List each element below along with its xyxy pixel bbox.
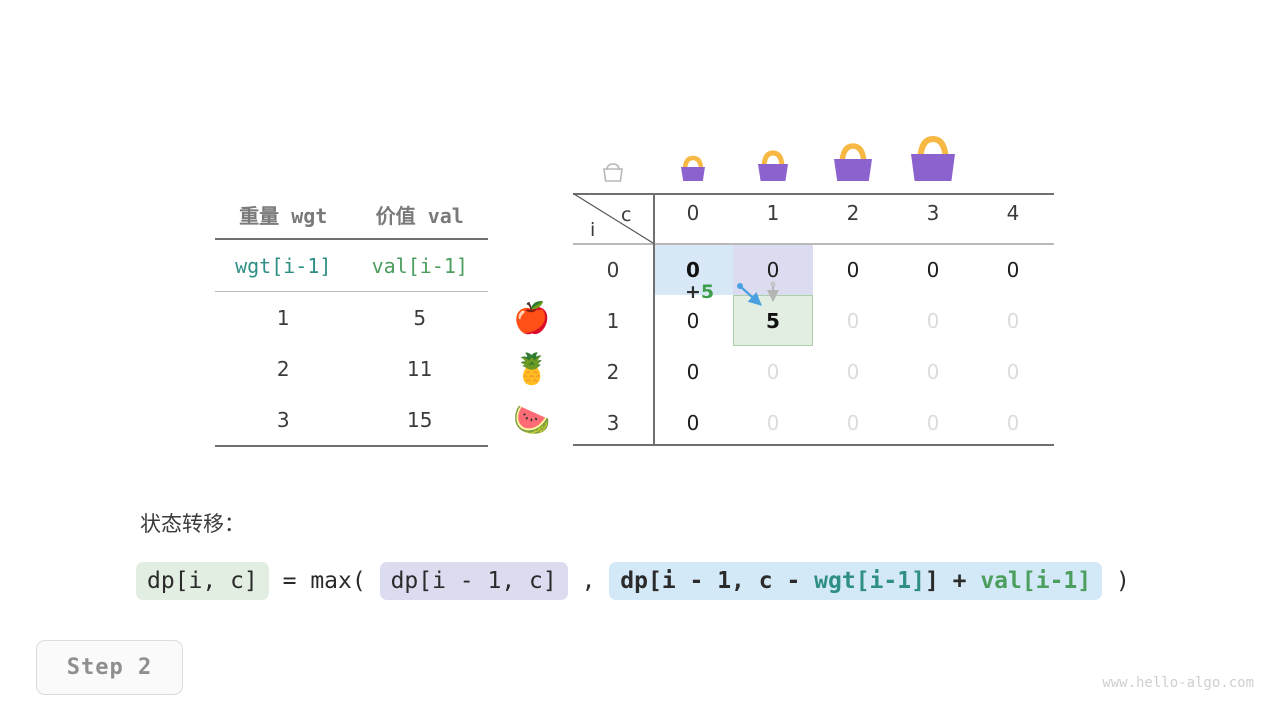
bag-icon-0 xyxy=(573,128,653,190)
formula-take-val: val[i-1] xyxy=(980,568,1091,594)
item-weight-1: 1 xyxy=(215,292,352,344)
dp-row-label-0: 0 xyxy=(573,258,653,282)
gain-annotation: +5 xyxy=(685,281,714,303)
dp-cell-1-3: 0 xyxy=(893,309,973,333)
dp-cell-2-4: 0 xyxy=(973,360,1053,384)
items-subheader-wgt: wgt[i-1] xyxy=(215,239,352,292)
items-header-weight: 重量 wgt xyxy=(215,190,352,239)
dp-cell-3-3: 0 xyxy=(893,411,973,435)
dp-cell-1-4: 0 xyxy=(973,309,1053,333)
gain-value: 5 xyxy=(701,281,714,303)
dp-cell-3-4: 0 xyxy=(973,411,1053,435)
item-value-3: 15 xyxy=(352,394,489,445)
dp-col-header-4: 4 xyxy=(973,201,1053,225)
step-badge: Step 2 xyxy=(36,640,183,695)
table-row: 2 11 xyxy=(215,343,488,394)
formula-take-wgt: wgt[i-1] xyxy=(814,568,925,594)
dp-cell-2-0: 0 xyxy=(653,360,733,384)
items-subheader-val: val[i-1] xyxy=(352,239,489,292)
dp-cell-2-1: 0 xyxy=(733,360,813,384)
table-row: 1 5 xyxy=(215,292,488,344)
items-subheader-row: wgt[i-1] val[i-1] xyxy=(215,239,488,292)
dp-cell-3-2: 0 xyxy=(813,411,893,435)
bag-icon-3 xyxy=(813,128,893,190)
dp-col-header-3: 3 xyxy=(893,201,973,225)
apple-icon: 🍎 xyxy=(508,293,556,344)
dp-row-label-3: 3 xyxy=(573,411,653,435)
formula-equals-max: = max( xyxy=(269,568,380,594)
dp-cell-2-3: 0 xyxy=(893,360,973,384)
dp-col-header-2: 2 xyxy=(813,201,893,225)
dp-col-header-1: 1 xyxy=(733,201,813,225)
dp-cell-1-1: 5 xyxy=(733,309,813,333)
item-value-2: 11 xyxy=(352,343,489,394)
dp-row-label-1: 1 xyxy=(573,309,653,333)
dp-cell-1-2: 0 xyxy=(813,309,893,333)
watermark: www.hello-algo.com xyxy=(1102,675,1254,691)
dp-cell-2-2: 0 xyxy=(813,360,893,384)
dp-table: c i 0 1 2 3 4 0 1 2 3 0 0 0 0 0 0 5 0 0 … xyxy=(573,193,1054,446)
dp-cell-0-3: 0 xyxy=(893,258,973,282)
dp-cell-1-0: 0 xyxy=(653,309,733,333)
formula-take-prefix: dp[i - 1, c - xyxy=(620,568,814,594)
pineapple-icon: 🍍 xyxy=(508,344,556,395)
formula-target: dp[i, c] xyxy=(136,562,269,600)
dp-cell-3-1: 0 xyxy=(733,411,813,435)
bag-capacity-row xyxy=(573,128,1054,190)
bag-icon-2 xyxy=(733,128,813,190)
bag-icon-1 xyxy=(653,128,733,190)
dp-corner-diagonal xyxy=(573,193,654,244)
fruit-icon-column: 🍎 🍍 🍉 xyxy=(508,293,556,446)
item-weight-3: 3 xyxy=(215,394,352,445)
dp-cell-0-4: 0 xyxy=(973,258,1053,282)
bag-icon-4 xyxy=(893,128,973,190)
state-transition-label: 状态转移： xyxy=(140,508,245,538)
gain-prefix: + xyxy=(685,281,701,303)
items-table: 重量 wgt 价值 val wgt[i-1] val[i-1] 1 5 2 11… xyxy=(215,190,488,447)
dp-bottom-border xyxy=(573,444,1054,446)
dp-cell-3-0: 0 xyxy=(653,411,733,435)
formula-close-paren: ) xyxy=(1102,568,1130,594)
item-weight-2: 2 xyxy=(215,343,352,394)
formula-take-mid: ] + xyxy=(925,568,980,594)
dp-corner-label-c: c xyxy=(621,204,631,226)
dp-row-label-2: 2 xyxy=(573,360,653,384)
watermelon-icon: 🍉 xyxy=(508,395,556,446)
items-header-value: 价值 val xyxy=(352,190,489,239)
dp-cell-0-0: 0 xyxy=(653,258,733,282)
item-value-1: 5 xyxy=(352,292,489,344)
state-transition-formula: dp[i, c] = max( dp[i - 1, c] , dp[i - 1,… xyxy=(136,558,1130,604)
dp-col-header-0: 0 xyxy=(653,201,733,225)
dp-corner-label-i: i xyxy=(590,219,595,241)
formula-option-take: dp[i - 1, c - wgt[i-1]] + val[i-1] xyxy=(609,562,1102,600)
formula-comma: , xyxy=(568,568,610,594)
formula-option-skip: dp[i - 1, c] xyxy=(380,562,568,600)
dp-cell-0-1: 0 xyxy=(733,258,813,282)
dp-cell-0-2: 0 xyxy=(813,258,893,282)
table-row: 3 15 xyxy=(215,394,488,445)
